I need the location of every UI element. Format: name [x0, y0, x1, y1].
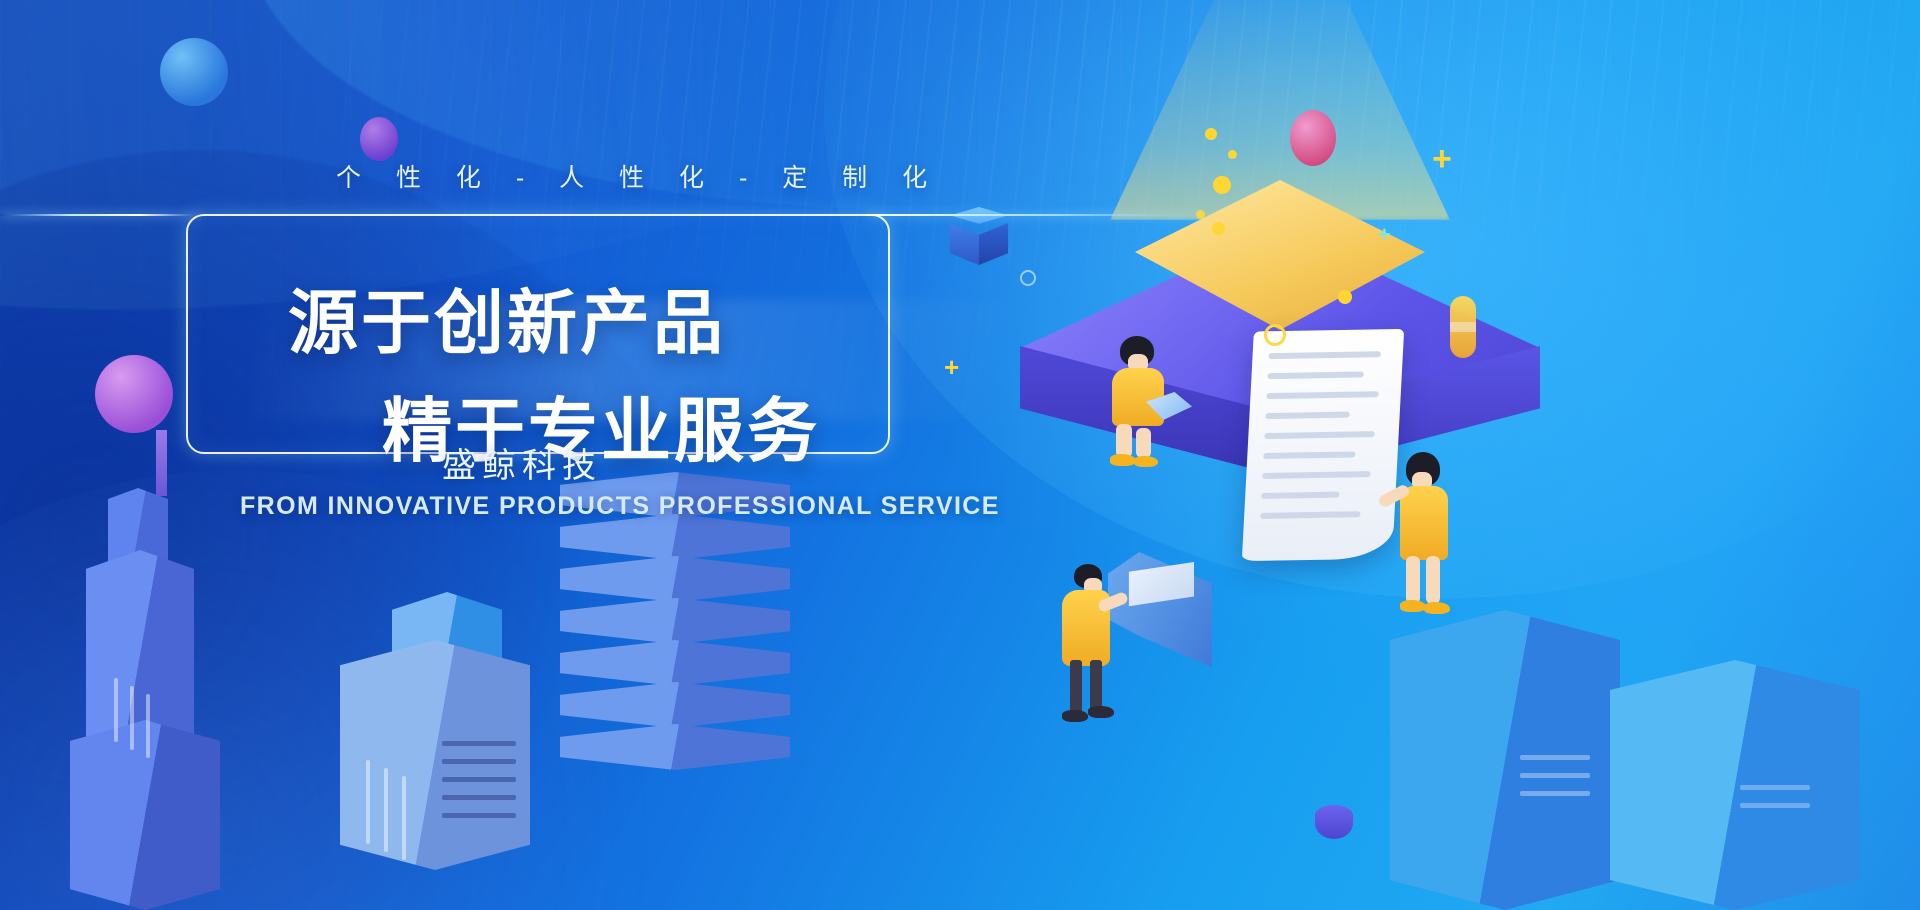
eyebrow-text: 个 性 化 - 人 性 化 - 定 制 化 — [336, 158, 941, 194]
glow-line-left — [0, 214, 200, 216]
english-tagline: FROM INNOVATIVE PRODUCTS PROFESSIONAL SE… — [240, 492, 1000, 521]
woman-with-laptop — [1098, 336, 1188, 466]
yellow-plus-icon: + — [1432, 142, 1452, 176]
hero-banner: + + + 个 性 化 - 人 性 化 - 定 制 化 源于创新产品 精于专业服… — [0, 0, 1920, 910]
cylinder-icon — [1315, 805, 1353, 839]
isometric-city-right — [1280, 490, 1920, 910]
headline-line-1: 源于创新产品 — [288, 287, 726, 361]
brand-name: 盛鲸科技 — [442, 438, 602, 487]
woman-holding-receipt — [1382, 452, 1472, 622]
paper-receipt — [1242, 329, 1404, 561]
glow-line-right — [866, 214, 1206, 216]
hero-content: 个 性 化 - 人 性 化 - 定 制 化 源于创新产品 精于专业服务 盛鲸科技… — [0, 0, 1100, 910]
